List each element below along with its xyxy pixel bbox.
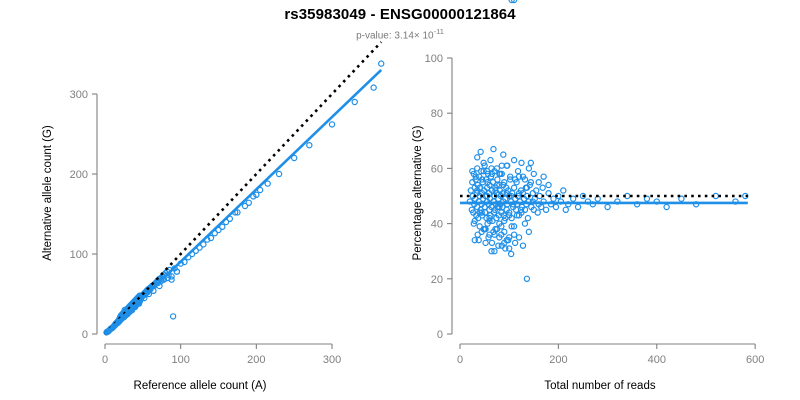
data-point [501, 152, 506, 157]
x-axis-label-left: Reference allele count (A) [0, 380, 400, 392]
y-tick-label: 60 [431, 163, 443, 175]
data-point [526, 166, 531, 171]
y-tick-label: 0 [437, 329, 443, 341]
scatter-plot-percentage-alternative: 0204060801000200400600 [400, 0, 800, 400]
data-point [526, 229, 531, 234]
data-point [475, 232, 480, 237]
data-point-group [467, 0, 748, 281]
x-tick-label: 600 [746, 354, 764, 366]
panel-percentage-alternative: 0204060801000200400600 Total number of r… [400, 0, 800, 400]
y-tick-label: 100 [425, 53, 443, 65]
data-point [171, 314, 176, 319]
y-tick-label: 300 [70, 89, 88, 101]
data-point [512, 232, 517, 237]
y-tick-label: 100 [70, 249, 88, 261]
data-point [246, 200, 251, 205]
data-point [513, 240, 518, 245]
data-point [515, 169, 520, 174]
data-point [541, 174, 546, 179]
data-point [561, 188, 566, 193]
y-tick-label: 0 [82, 329, 88, 341]
data-point [534, 188, 539, 193]
data-point [522, 221, 527, 226]
data-point [489, 240, 494, 245]
x-tick-label: 0 [457, 354, 463, 366]
data-point [524, 276, 529, 281]
y-axis-label-right: Percentage alternative (G) [412, 43, 424, 343]
data-point [307, 143, 312, 148]
panel-allele-counts: 01002003000100200300 Reference allele co… [0, 0, 400, 400]
y-tick-label: 20 [431, 274, 443, 286]
data-point [563, 207, 568, 212]
data-point [512, 158, 517, 163]
y-axis-label-left: Alternative allele count (G) [42, 43, 54, 343]
data-point [664, 204, 669, 209]
data-point [543, 207, 548, 212]
data-point [276, 171, 281, 176]
data-point [520, 243, 525, 248]
x-tick-label: 100 [171, 354, 189, 366]
figure-canvas: rs35983049 - ENSG00000121864 p-value: 3.… [0, 0, 800, 400]
data-point [528, 160, 533, 165]
y-tick-label: 80 [431, 108, 443, 120]
data-point [537, 193, 542, 198]
x-tick-label: 0 [102, 354, 108, 366]
data-point [470, 180, 475, 185]
fit-line [105, 70, 381, 334]
data-point [371, 85, 376, 90]
x-axis-label-right: Total number of reads [400, 380, 800, 392]
x-tick-label: 200 [247, 354, 265, 366]
data-point [512, 185, 517, 190]
data-point [575, 204, 580, 209]
data-point [379, 61, 384, 66]
data-point [546, 182, 551, 187]
x-tick-label: 300 [323, 354, 341, 366]
data-point [495, 177, 500, 182]
data-point [509, 251, 514, 256]
x-tick-label: 400 [648, 354, 666, 366]
data-point [525, 215, 530, 220]
data-point [352, 99, 357, 104]
data-point [530, 191, 535, 196]
data-point [519, 160, 524, 165]
data-point [491, 146, 496, 151]
data-point [540, 185, 545, 190]
data-point [516, 235, 521, 240]
data-point [475, 155, 480, 160]
data-point [496, 243, 501, 248]
y-tick-label: 40 [431, 219, 443, 231]
scatter-plot-allele-counts: 01002003000100200300 [0, 0, 400, 400]
data-point [536, 180, 541, 185]
data-point [488, 158, 493, 163]
x-tick-label: 200 [549, 354, 567, 366]
reference-line [105, 42, 381, 334]
data-point [329, 122, 334, 127]
data-point [483, 240, 488, 245]
data-point [553, 204, 558, 209]
data-point [478, 149, 483, 154]
data-point [531, 171, 536, 176]
data-point [605, 204, 610, 209]
y-tick-label: 200 [70, 169, 88, 181]
data-point [535, 210, 540, 215]
